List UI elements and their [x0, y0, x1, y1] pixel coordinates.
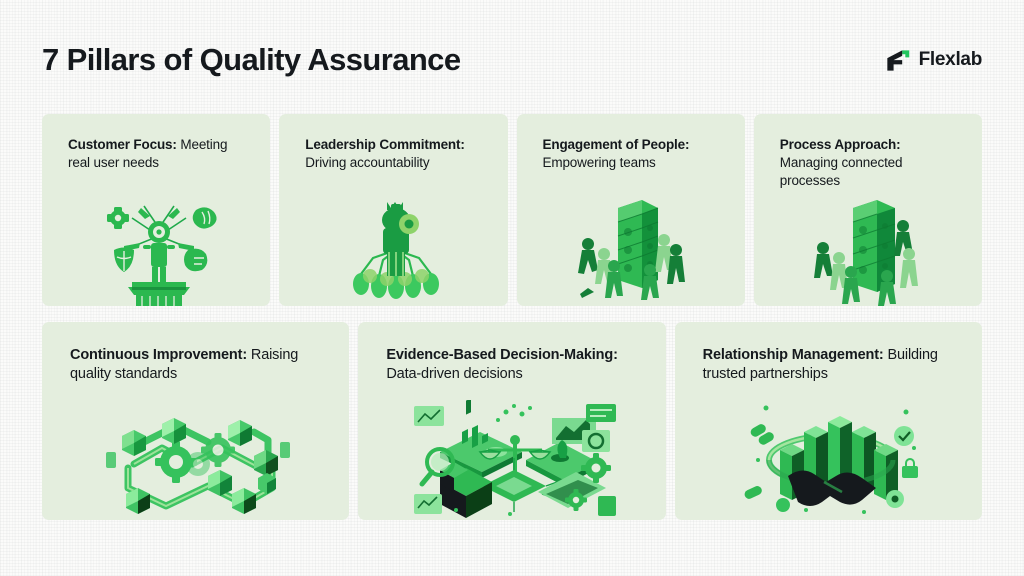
pillar-term: Leadership Commitment: — [305, 137, 464, 152]
flexlab-arrow-logo-icon — [885, 48, 910, 73]
chess-king-leader-with-branches-illustration — [305, 174, 487, 306]
pillar-card-text: Leadership Commitment: Driving accountab… — [305, 136, 487, 172]
brand-name: Flexlab — [919, 49, 982, 71]
handshake-with-blocks-and-orbits-illustration — [703, 386, 960, 520]
pillar-card-customer-focus[interactable]: Customer Focus: Meeting real user needs — [42, 114, 270, 306]
team-building-pillar-illustration — [543, 174, 725, 306]
pillar-description: Managing connected processes — [780, 155, 903, 188]
pillars-row-bottom: Continuous Improvement: Raising quality … — [42, 322, 982, 520]
pillar-card-engagement-of-people[interactable]: Engagement of People: Empowering teams — [517, 114, 745, 306]
pillar-card-text: Continuous Improvement: Raising quality … — [70, 346, 327, 384]
pillar-description: Data-driven decisions — [386, 366, 522, 382]
pillar-card-process-approach[interactable]: Process Approach: Managing connected pro… — [754, 114, 982, 306]
pillar-card-leadership-commitment[interactable]: Leadership Commitment: Driving accountab… — [279, 114, 507, 306]
pillar-description: Driving accountability — [305, 155, 429, 170]
pillar-term: Customer Focus: — [68, 137, 180, 152]
pillar-card-text: Process Approach: Managing connected pro… — [780, 136, 962, 190]
pillar-term: Relationship Management: — [703, 347, 888, 363]
pillars-row-top: Customer Focus: Meeting real user needs — [42, 114, 982, 306]
person-on-pillar-with-quality-icons-illustration — [68, 174, 250, 306]
pillar-card-text: Evidence-Based Decision-Making: Data-dri… — [386, 346, 643, 384]
pillar-card-relationship-management[interactable]: Relationship Management: Building truste… — [675, 322, 982, 520]
pillar-term: Process Approach: — [780, 137, 901, 152]
slide-header: 7 Pillars of Quality Assurance Flexlab — [42, 34, 982, 86]
pillar-card-text: Relationship Management: Building truste… — [703, 346, 960, 384]
pillar-term: Continuous Improvement: — [70, 347, 251, 363]
pillar-term: Evidence-Based Decision-Making: — [386, 347, 617, 363]
team-assembling-process-tower-illustration — [780, 192, 962, 306]
pillar-term: Engagement of People: — [543, 137, 690, 152]
isometric-data-analytics-scales-chip-illustration — [386, 386, 643, 520]
pillar-card-text: Customer Focus: Meeting real user needs — [68, 136, 250, 172]
pillar-card-evidence-based-decision-making[interactable]: Evidence-Based Decision-Making: Data-dri… — [358, 322, 665, 520]
pillar-card-text: Engagement of People: Empowering teams — [543, 136, 725, 172]
brand-logo: Flexlab — [885, 48, 982, 73]
pillar-card-continuous-improvement[interactable]: Continuous Improvement: Raising quality … — [42, 322, 349, 520]
page-title: 7 Pillars of Quality Assurance — [42, 42, 460, 78]
slide-canvas: 7 Pillars of Quality Assurance Flexlab C… — [0, 0, 1024, 576]
isometric-pipeline-gears-network-illustration — [70, 386, 327, 520]
pillar-description: Empowering teams — [543, 155, 656, 170]
